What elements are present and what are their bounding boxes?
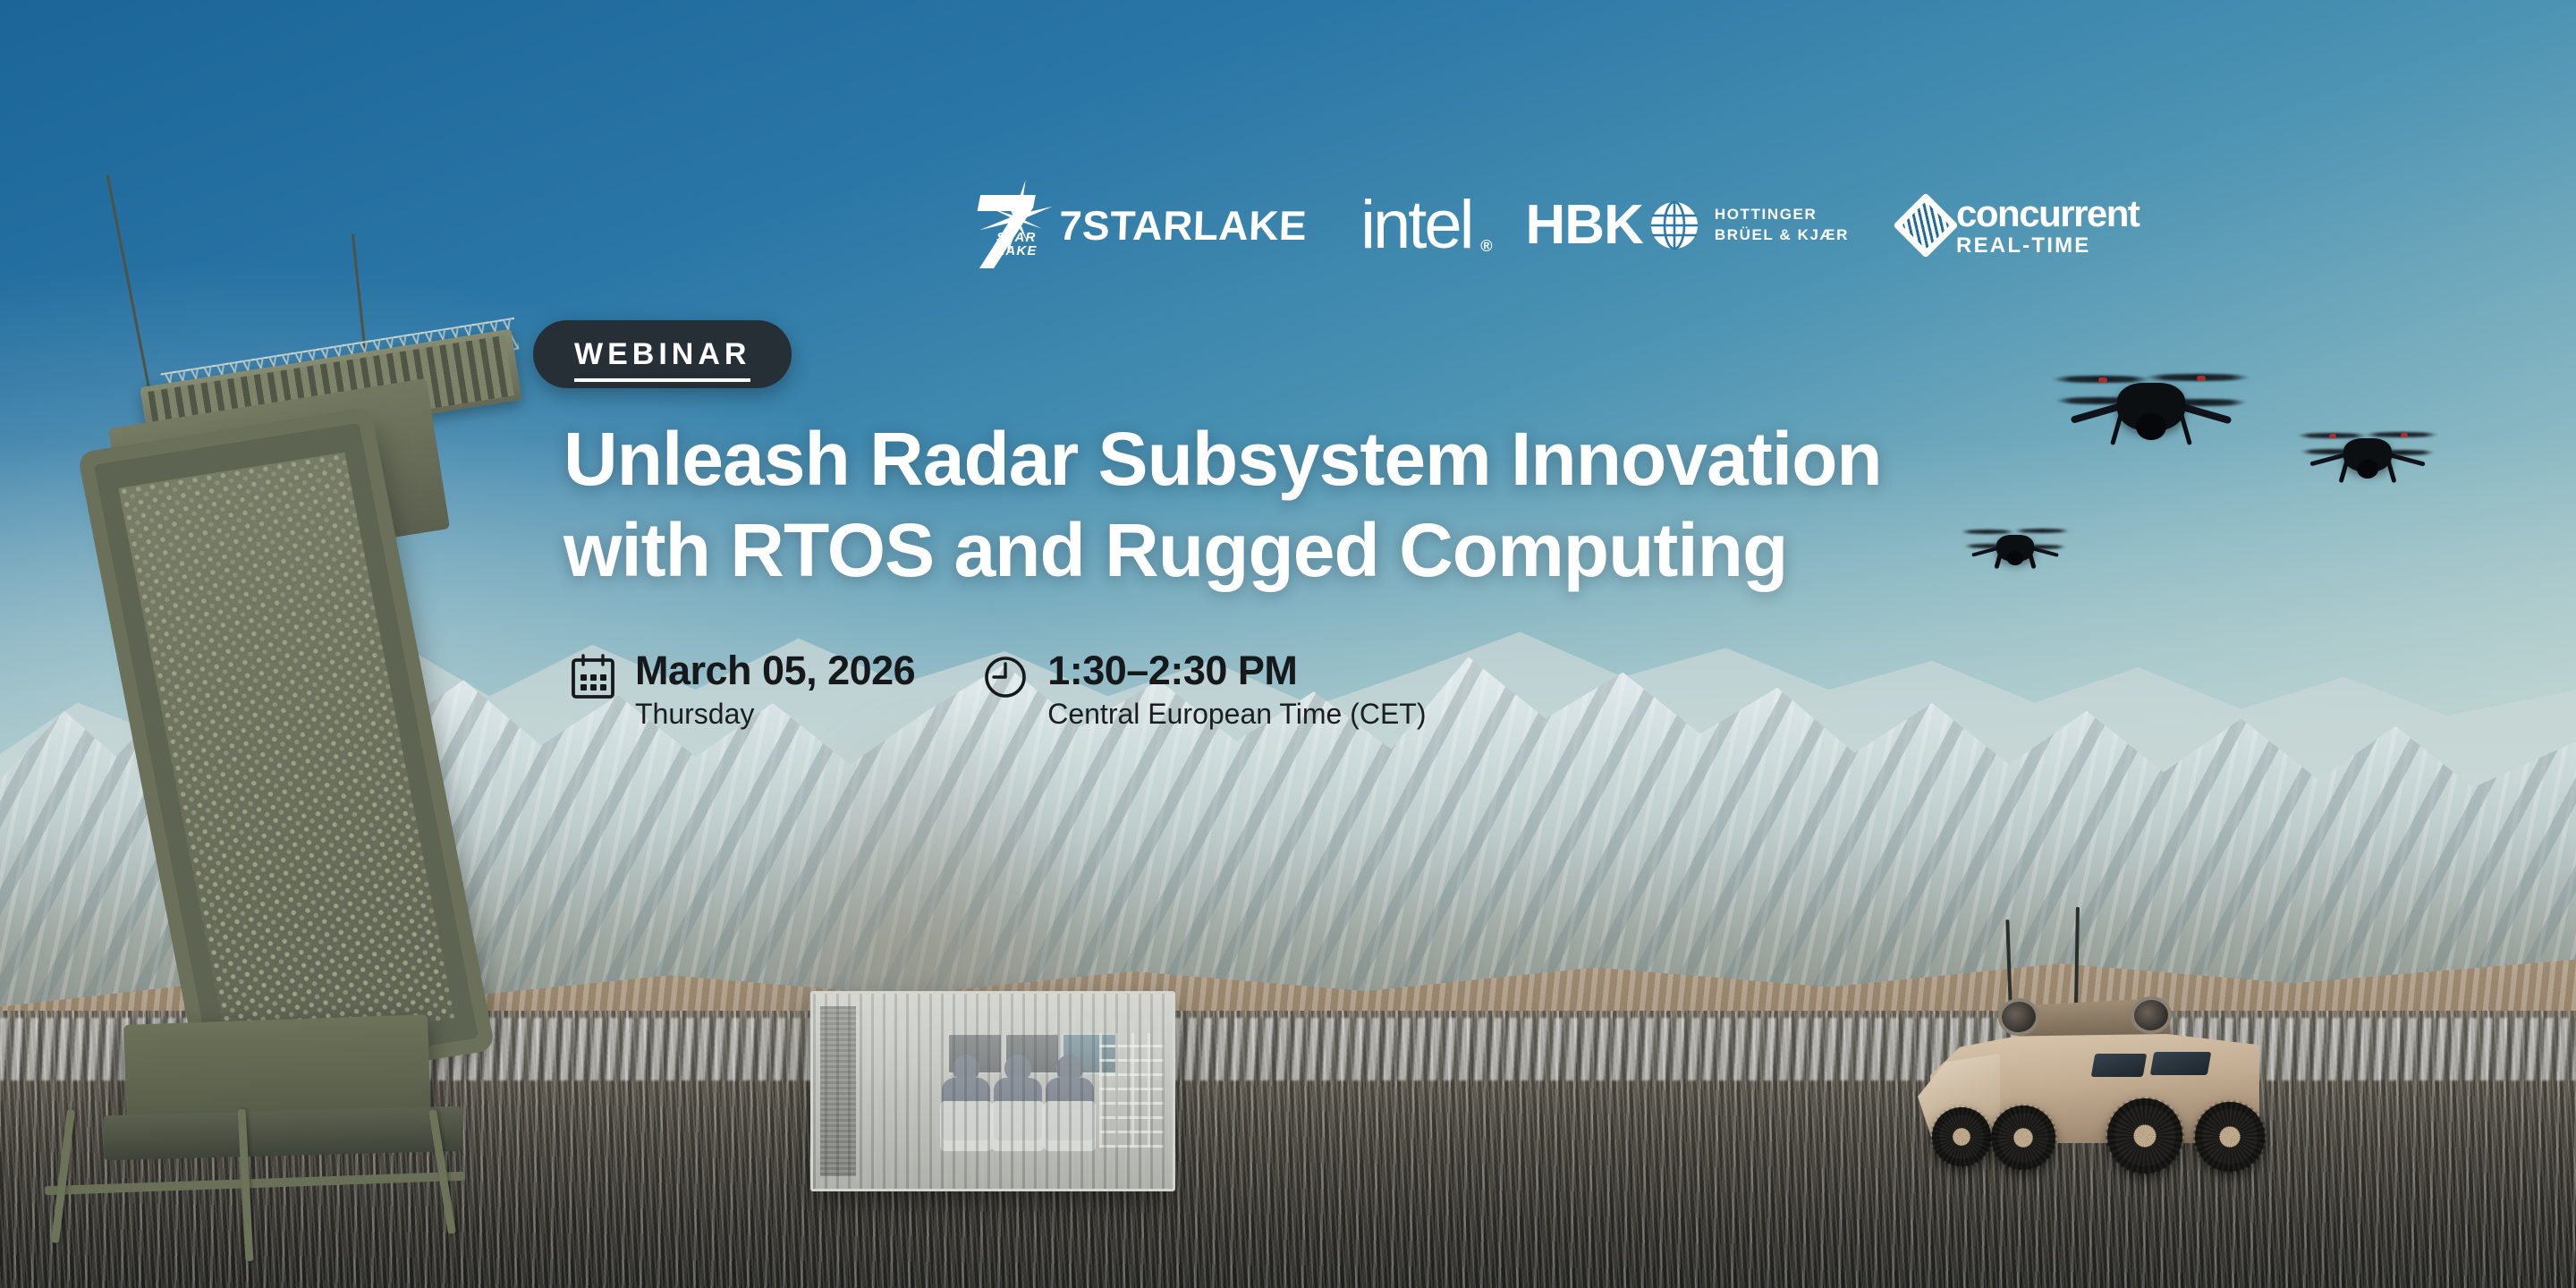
concurrent-text: concurrent REAL-TIME [1956,195,2139,257]
vehicle-window [2150,1052,2212,1075]
event-date-text: March 05, 2026 Thursday [635,649,915,733]
drone-camera-gimbal [2007,551,2024,565]
shelter-glass-overlay [813,994,1173,1189]
phased-array-radar [18,179,590,1181]
vehicle-wheel [1991,1106,2055,1170]
starlake-mark-line1: STAR [996,231,1038,244]
calendar-icon [569,653,617,701]
event-date-block: March 05, 2026 Thursday [569,649,915,733]
drone-landing-leg [2179,413,2192,445]
drone-led [2401,433,2408,437]
headline-line-2: with RTOS and Rugged Computing [563,504,1882,596]
vehicle-wheel [2195,1102,2265,1172]
drone-led [2197,376,2206,381]
drone-landing-leg [2027,551,2036,570]
armored-personnel-carrier [1909,943,2293,1211]
radar-platform-skirt [103,1106,462,1160]
vehicle-wheel [1932,1107,1991,1166]
drone-landing-leg [2339,460,2350,483]
drone-camera-gimbal [2357,460,2378,479]
event-time-text: 1:30–2:30 PM Central European Time (CET) [1047,649,1426,733]
drone-camera-gimbal [2136,413,2166,440]
event-time-value: 1:30–2:30 PM [1047,649,1426,692]
drone-small [1964,521,2066,576]
registered-trademark-icon: ® [1480,238,1489,254]
event-date-value: March 05, 2026 [635,649,915,692]
logo-7starlake: STAR LAKE 7STARLAKE [966,175,1307,275]
vehicle-window [2091,1054,2148,1077]
drone-led [2098,377,2107,383]
concurrent-wordmark: concurrent [1956,195,2139,233]
vehicle-wheel [2107,1098,2182,1174]
logo-intel: intel ® [1360,191,1471,259]
drone-landing-leg [1994,551,2003,570]
starlake-wordmark: 7STARLAKE [1058,205,1308,246]
vehicle-antenna [2074,907,2080,1004]
starlake-mark-line2: LAKE [996,244,1038,258]
drone-landing-leg [2110,413,2123,445]
intel-wordmark: intel ® [1360,191,1471,259]
hbk-wordmark: HBK [1526,198,1643,253]
drone-medium [2301,420,2435,490]
intel-wordmark-text: intel [1360,187,1471,263]
logo-hbk: HBK HOTTINGER BRÜEL & KJÆR [1526,198,1850,253]
page-title: Unleash Radar Subsystem Innovation with … [563,413,1882,597]
radar-emitter-elements [118,453,454,1055]
command-shelter-container [810,991,1175,1191]
webinar-badge-label: WEBINAR [574,337,750,382]
event-weekday: Thursday [635,696,915,733]
event-meta: March 05, 2026 Thursday 1:30–2:30 PM Cen… [569,649,1426,733]
drone-rotor [2014,529,2070,533]
clock-icon [981,653,1030,701]
headline-line-1: Unleash Radar Subsystem Innovation [563,417,1882,501]
drone-rotor [1961,530,2014,534]
webinar-badge: WEBINAR [533,320,792,388]
globe-icon [1648,199,1700,251]
drone-led [2329,434,2336,438]
starlake-emblem-icon: STAR LAKE [966,175,1052,275]
event-time-block: 1:30–2:30 PM Central European Time (CET) [981,649,1426,733]
hbk-subtitle: HOTTINGER BRÜEL & KJÆR [1715,205,1849,246]
hbk-subtitle-line1: HOTTINGER [1715,205,1849,225]
hbk-subtitle-line2: BRÜEL & KJÆR [1715,225,1849,246]
sponsor-logo-row: STAR LAKE 7STARLAKE intel ® HBK [966,175,2139,275]
concurrent-diamond-icon [1893,192,1959,258]
event-timezone: Central European Time (CET) [1047,696,1426,733]
webinar-banner: STAR LAKE 7STARLAKE intel ® HBK [0,0,2576,1288]
drone-landing-leg [2386,460,2397,483]
drone-large [2057,358,2245,456]
starlake-mark-text: STAR LAKE [996,231,1038,258]
concurrent-subtitle: REAL-TIME [1956,235,2139,257]
logo-concurrent-real-time: concurrent REAL-TIME [1902,195,2139,257]
